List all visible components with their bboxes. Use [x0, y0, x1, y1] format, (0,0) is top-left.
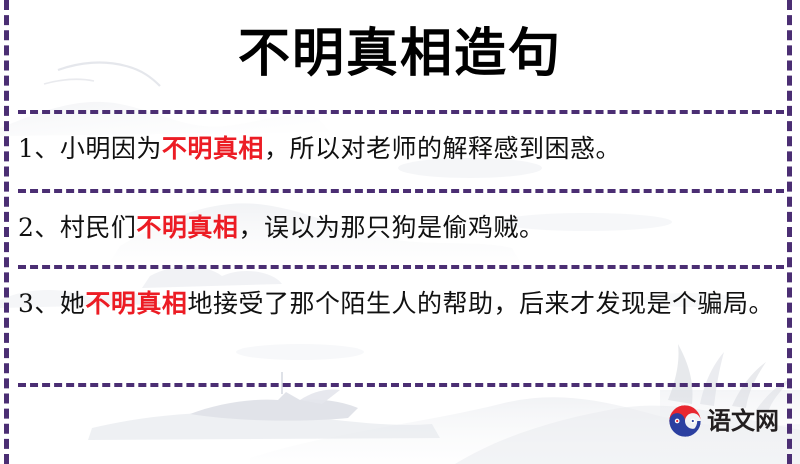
title-area: 不明真相造句: [0, 12, 800, 96]
divider-4: [18, 383, 784, 387]
right-dashed-rail: [787, 0, 792, 464]
divider-1: [18, 110, 784, 114]
sentence-3-after: 地接受了那个陌生人的帮助，后来才发现是个骗局。: [187, 289, 774, 318]
divider-3: [18, 265, 784, 269]
site-logo-text: 语文网: [707, 409, 779, 433]
slide-canvas: 不明真相造句 1、小明因为不明真相，所以对老师的解释感到困惑。 2、村民们不明真…: [0, 0, 800, 464]
sentence-3-highlight: 不明真相: [85, 289, 187, 318]
page-title: 不明真相造句: [238, 28, 562, 80]
sentence-3-index: 3、: [18, 289, 60, 318]
sentence-2-after: ，误以为那只狗是偷鸡贼。: [238, 213, 544, 242]
sentence-2: 2、村民们不明真相，误以为那只狗是偷鸡贼。: [18, 207, 778, 249]
sentence-2-index: 2、: [18, 213, 60, 242]
divider-2: [18, 189, 784, 193]
sentence-1: 1、小明因为不明真相，所以对老师的解释感到困惑。: [18, 128, 778, 170]
sentence-row-1: 1、小明因为不明真相，所以对老师的解释感到困惑。: [18, 128, 778, 170]
sentence-1-highlight: 不明真相: [162, 134, 264, 163]
sentence-1-after: ，所以对老师的解释感到困惑。: [264, 134, 621, 163]
yinyang-circle-icon: [668, 404, 702, 438]
sentence-1-before: 小明因为: [60, 134, 162, 163]
sentence-row-2: 2、村民们不明真相，误以为那只狗是偷鸡贼。: [18, 207, 778, 249]
sentence-1-index: 1、: [18, 134, 60, 163]
sentence-2-before: 村民们: [60, 213, 137, 242]
sentence-3: 3、她不明真相地接受了那个陌生人的帮助，后来才发现是个骗局。: [18, 283, 778, 325]
sentence-row-3: 3、她不明真相地接受了那个陌生人的帮助，后来才发现是个骗局。: [18, 283, 778, 325]
sentence-3-before: 她: [60, 289, 86, 318]
sentence-2-highlight: 不明真相: [136, 213, 238, 242]
site-logo[interactable]: 语文网: [668, 404, 779, 438]
left-dashed-rail: [4, 0, 9, 464]
